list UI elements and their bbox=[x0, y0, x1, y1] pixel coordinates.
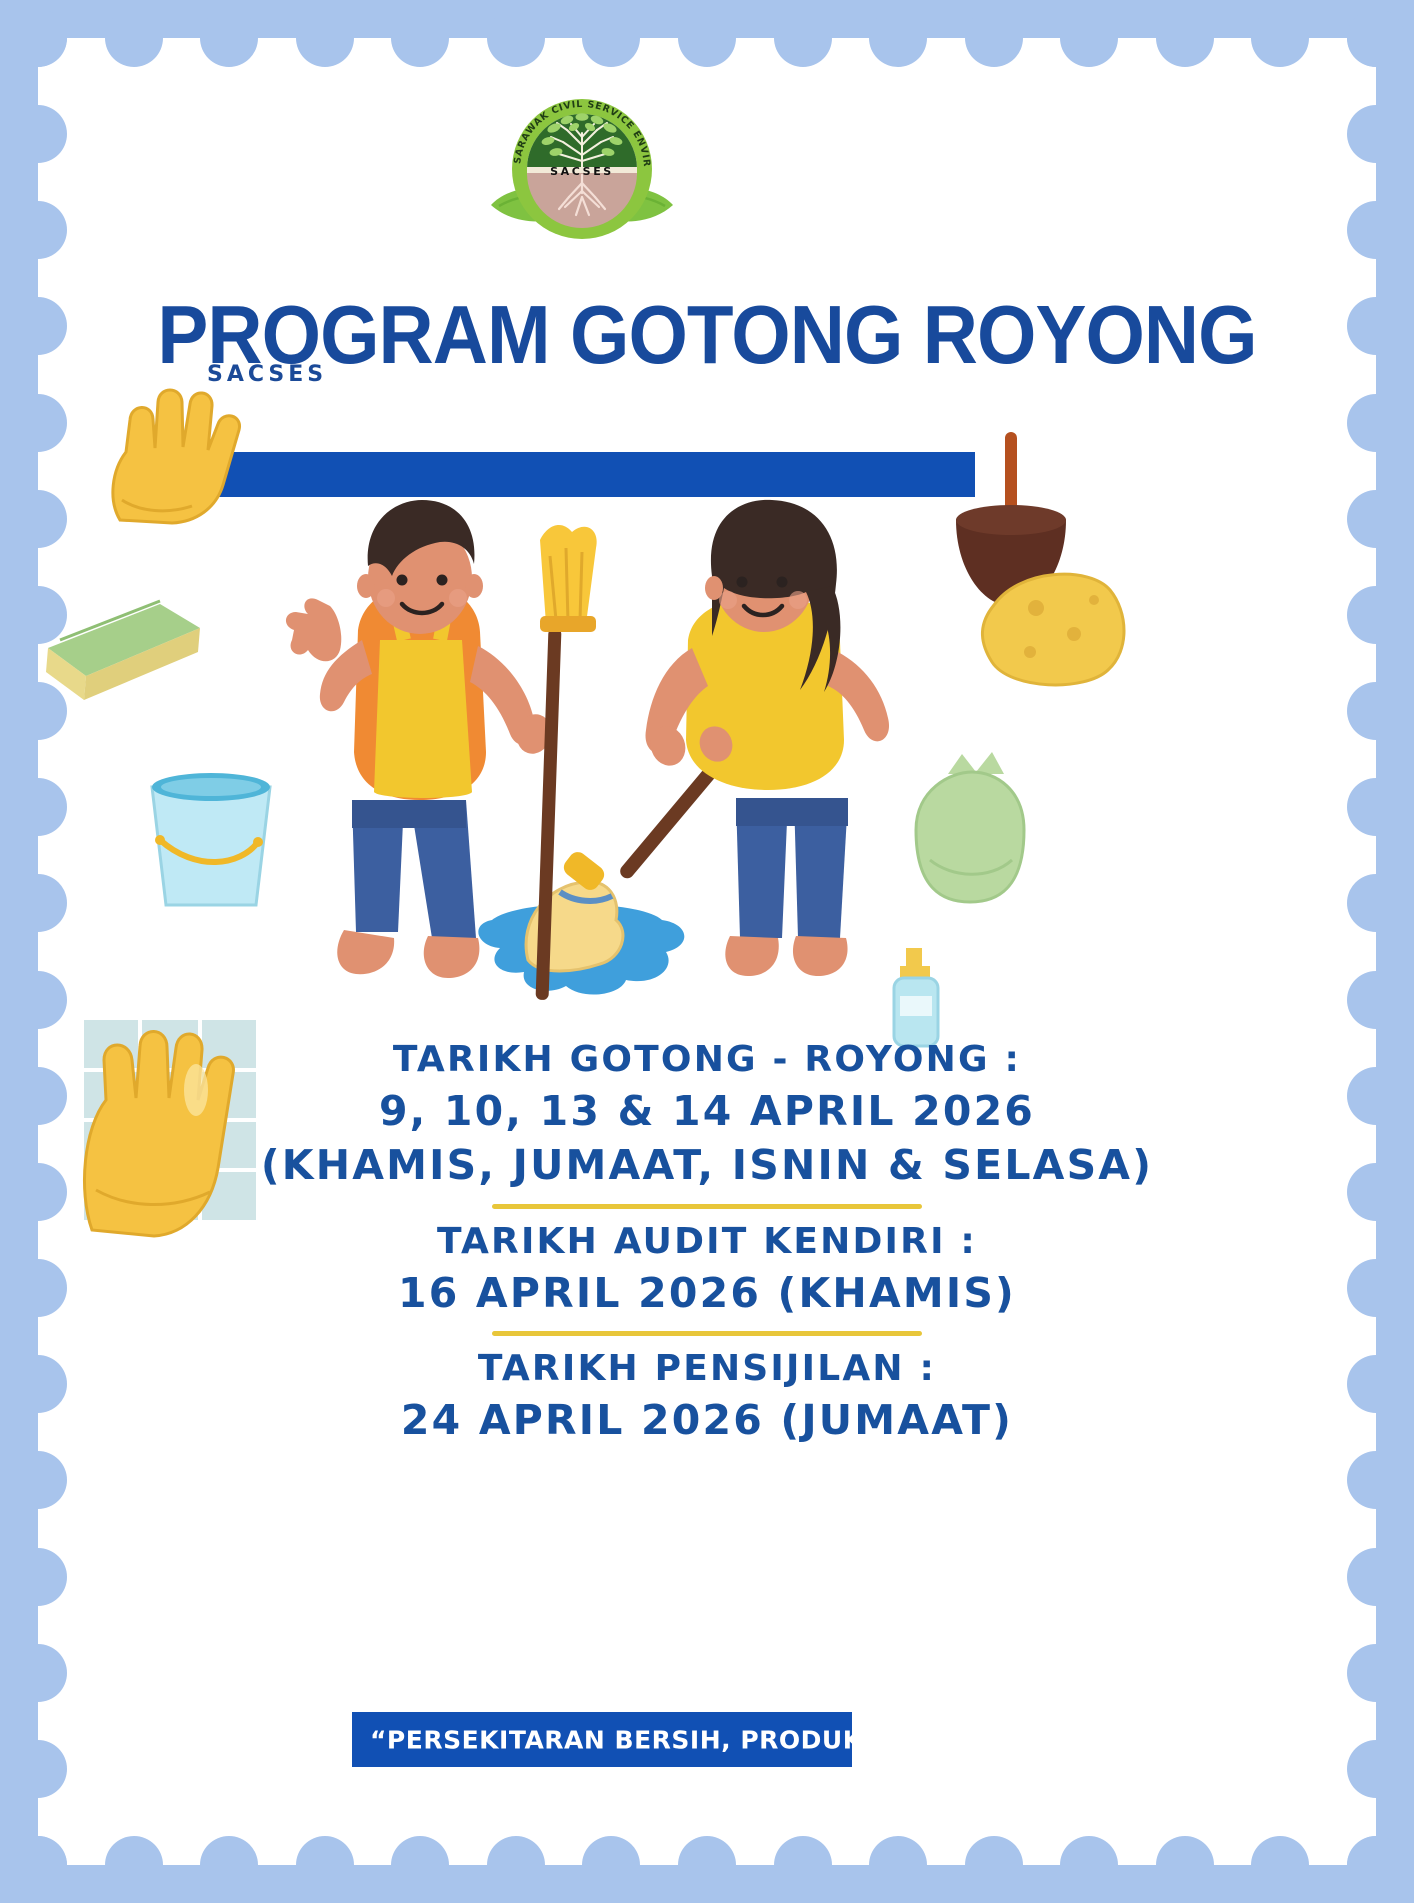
pensijilan-date: 24 APRIL 2026 (JUMAAT) bbox=[0, 1393, 1414, 1448]
pensijilan-heading: TARIKH PENSIJILAN : bbox=[0, 1345, 1414, 1393]
gotong-royong-date: 9, 10, 13 & 14 APRIL 2026 bbox=[0, 1084, 1414, 1139]
divider-1 bbox=[492, 1204, 922, 1209]
title-subtitle: SACSES bbox=[207, 362, 327, 387]
sacses-logo: STANDARD SARAWAK CIVIL SERVICE ENVIRONME… bbox=[481, 97, 683, 247]
schedule-group-audit: TARIKH AUDIT KENDIRI : 16 APRIL 2026 (KH… bbox=[0, 1218, 1414, 1320]
title-blue-bar bbox=[205, 452, 975, 497]
schedule-group-gotong-royong: TARIKH GOTONG - ROYONG : 9, 10, 13 & 14 … bbox=[0, 1036, 1414, 1193]
poster-background: STANDARD SARAWAK CIVIL SERVICE ENVIRONME… bbox=[0, 0, 1414, 1903]
logo-center-text: SACSES bbox=[550, 165, 614, 178]
gotong-royong-days: (KHAMIS, JUMAAT, ISNIN & SELASA) bbox=[0, 1138, 1414, 1193]
gotong-royong-heading: TARIKH GOTONG - ROYONG : bbox=[0, 1036, 1414, 1084]
divider-2 bbox=[492, 1331, 922, 1336]
schedule-block: TARIKH GOTONG - ROYONG : 9, 10, 13 & 14 … bbox=[0, 1034, 1414, 1448]
audit-heading: TARIKH AUDIT KENDIRI : bbox=[0, 1218, 1414, 1266]
schedule-group-pensijilan: TARIKH PENSIJILAN : 24 APRIL 2026 (JUMAA… bbox=[0, 1345, 1414, 1447]
audit-date: 16 APRIL 2026 (KHAMIS) bbox=[0, 1266, 1414, 1321]
slogan-banner: “PERSEKITARAN BERSIH, PRODUKTIVITI MENIN… bbox=[352, 1712, 852, 1767]
slogan-text: “PERSEKITARAN BERSIH, PRODUKTIVITI MENIN… bbox=[370, 1725, 852, 1754]
